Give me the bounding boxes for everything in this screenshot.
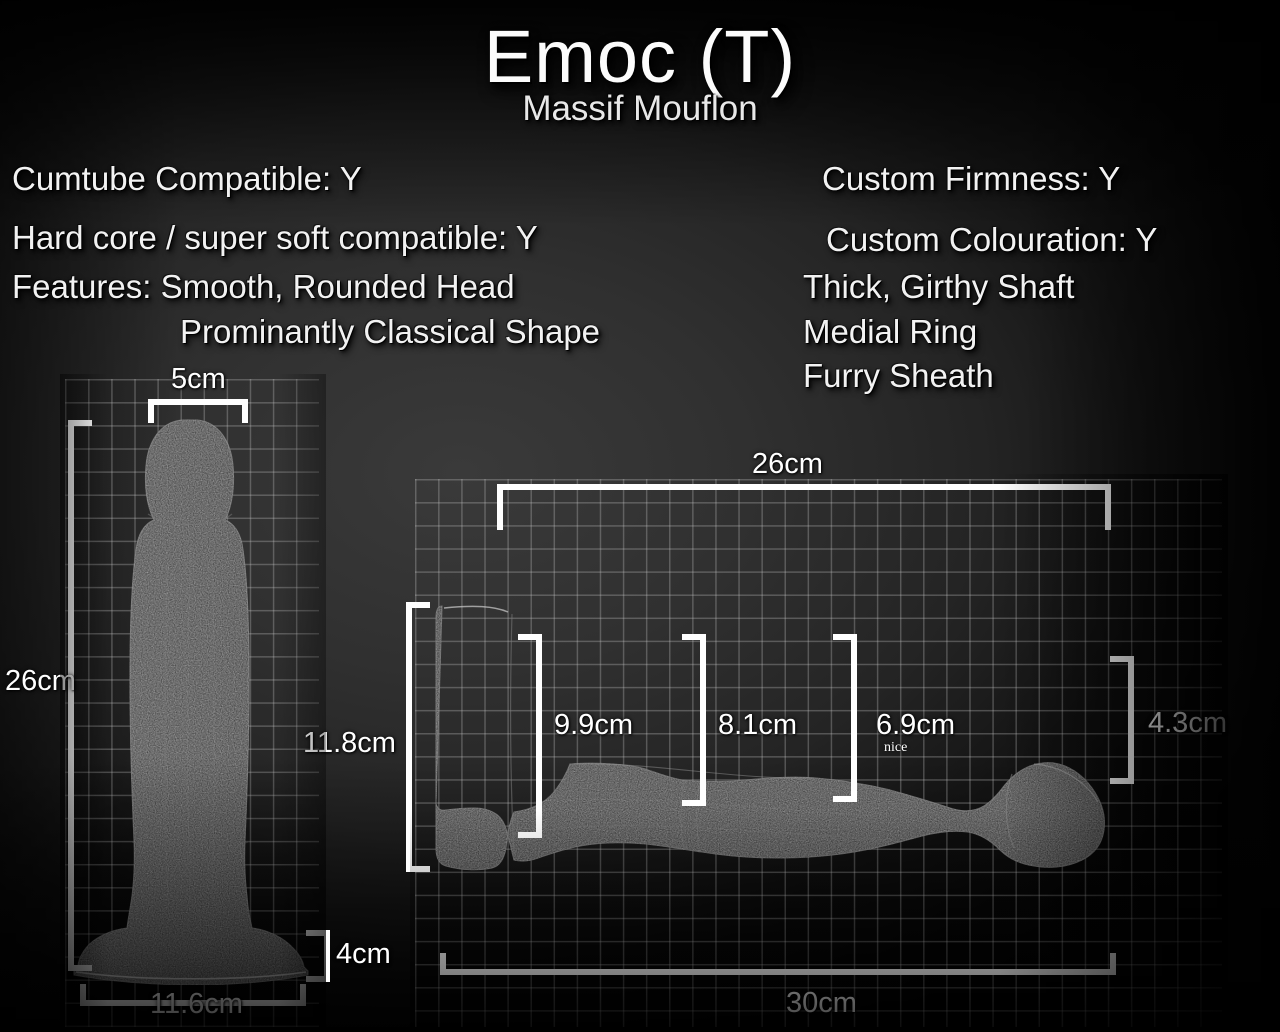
- dim-side-girth-b: 8.1cm: [718, 709, 797, 742]
- dim-side-base-height: 11.8cm: [303, 727, 396, 760]
- spec-cumtube-compatible: Cumtube Compatible: Y: [12, 160, 362, 198]
- bracket-side-girth-c: [833, 634, 857, 802]
- page-subtitle: Massif Mouflon: [0, 89, 1280, 129]
- bracket-side-girth-b: [682, 634, 706, 806]
- bracket-side-tip-height: [1110, 656, 1134, 784]
- dim-side-tip-height: 4.3cm: [1148, 707, 1227, 740]
- front-view-silhouette: [72, 410, 322, 985]
- spec-feature-furry-sheath: Furry Sheath: [803, 357, 994, 395]
- page-title: Emoc (T): [0, 14, 1280, 99]
- spec-feature-medial-ring: Medial Ring: [803, 313, 977, 351]
- dim-side-girth-c: 6.9cm: [876, 709, 955, 742]
- spec-features-line1: Features: Smooth, Rounded Head: [12, 268, 515, 306]
- dim-side-girth-c-note: nice: [884, 740, 907, 756]
- dim-front-width: 5cm: [171, 363, 226, 396]
- bracket-side-insertable-length: [497, 484, 1111, 530]
- spec-hardcore-softcompatible: Hard core / super soft compatible: Y: [12, 219, 538, 257]
- spec-custom-colouration: Custom Colouration: Y: [826, 221, 1157, 259]
- dim-side-total-length: 30cm: [786, 987, 857, 1020]
- spec-features-line2: Prominantly Classical Shape: [180, 313, 600, 351]
- spec-custom-firmness: Custom Firmness: Y: [822, 160, 1120, 198]
- dim-front-height: 26cm: [5, 665, 76, 698]
- dim-front-base-height: 4cm: [336, 938, 391, 971]
- dim-side-insertable-length: 26cm: [752, 448, 823, 481]
- bracket-side-total-length: [440, 953, 1116, 975]
- bracket-side-base-height: [406, 602, 430, 872]
- dim-side-girth-a: 9.9cm: [554, 709, 633, 742]
- bracket-front-base-height: [306, 930, 330, 982]
- bracket-front-top-width: [148, 399, 248, 423]
- spec-feature-thick-girthy-shaft: Thick, Girthy Shaft: [803, 268, 1074, 306]
- bracket-side-girth-a: [518, 634, 542, 838]
- dim-front-base-width: 11.6cm: [150, 988, 243, 1021]
